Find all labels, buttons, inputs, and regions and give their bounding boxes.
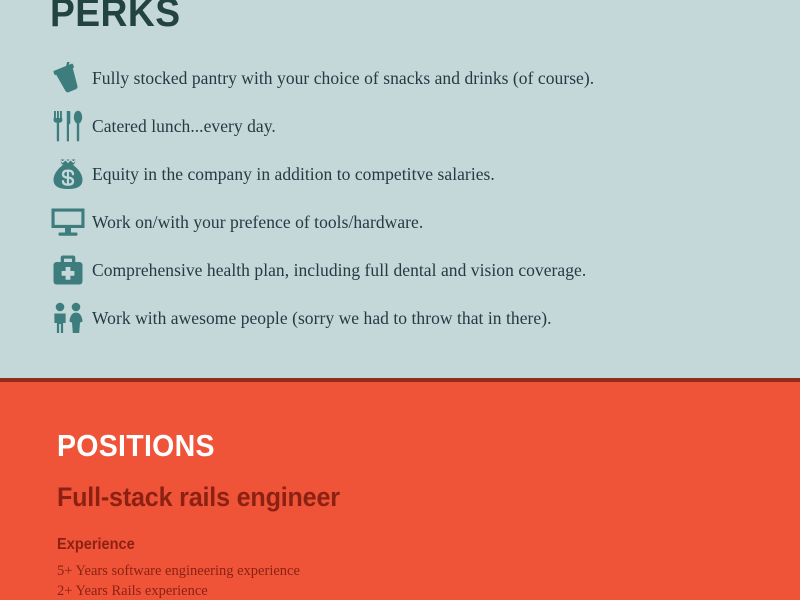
perk-text: Catered lunch...every day. [92, 116, 276, 137]
perk-text: Work with awesome people (sorry we had t… [92, 308, 552, 329]
medical-kit-icon [48, 251, 88, 289]
perk-item-pantry: Fully stocked pantry with your choice of… [0, 54, 800, 102]
drink-cup-icon [48, 59, 88, 97]
perks-list: Fully stocked pantry with your choice of… [0, 54, 800, 342]
perks-section: PERKS Fully stocked pantry with your cho… [0, 0, 800, 378]
job-title: Full-stack rails engineer [57, 482, 340, 513]
experience-list: 5+ Years software engineering experience… [57, 561, 300, 600]
people-icon [48, 299, 88, 337]
perk-text: Comprehensive health plan, including ful… [92, 260, 586, 281]
perk-item-people: Work with awesome people (sorry we had t… [0, 294, 800, 342]
perk-item-tools: Work on/with your prefence of tools/hard… [0, 198, 800, 246]
perks-heading: PERKS [50, 0, 180, 36]
cutlery-icon [48, 107, 88, 145]
monitor-icon [48, 203, 88, 241]
perk-text: Work on/with your prefence of tools/hard… [92, 212, 423, 233]
experience-item: 2+ Years Rails experience [57, 581, 300, 600]
positions-section: POSITIONS Full-stack rails engineer Expe… [0, 382, 800, 600]
perk-item-lunch: Catered lunch...every day. [0, 102, 800, 150]
positions-heading: POSITIONS [57, 428, 215, 464]
perk-text: Equity in the company in addition to com… [92, 164, 495, 185]
perk-item-health: Comprehensive health plan, including ful… [0, 246, 800, 294]
perk-item-equity: Equity in the company in addition to com… [0, 150, 800, 198]
experience-label: Experience [57, 536, 135, 554]
perk-text: Fully stocked pantry with your choice of… [92, 68, 594, 89]
money-bag-icon [48, 155, 88, 193]
experience-item: 5+ Years software engineering experience [57, 561, 300, 581]
